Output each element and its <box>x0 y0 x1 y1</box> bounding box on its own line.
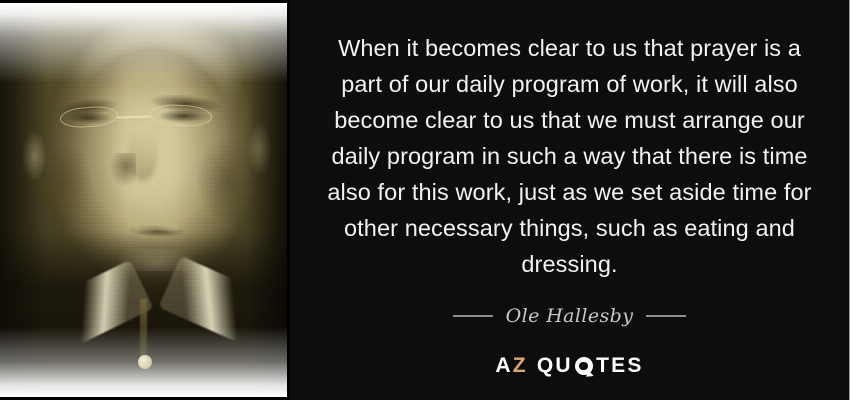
quote-text: When it becomes clear to us that prayer … <box>316 30 823 282</box>
photo-vignette-bottom <box>0 327 287 397</box>
portrait-frame <box>0 3 287 397</box>
photo-vignette-top <box>0 3 287 83</box>
logo-letters-tes: TES <box>596 354 643 378</box>
author-name: Ole Hallesby <box>506 305 634 327</box>
azquotes-logo[interactable]: A Z QU TES <box>290 354 849 378</box>
attribution: Ole Hallesby <box>453 305 687 327</box>
logo-letter-z: Z <box>513 354 528 378</box>
portrait-panel <box>0 0 290 400</box>
quote-panel: When it becomes clear to us that prayer … <box>290 0 849 400</box>
logo-letters-qu: QU <box>537 354 573 378</box>
attribution-rule-left <box>453 315 493 317</box>
quote-card: When it becomes clear to us that prayer … <box>0 0 850 400</box>
attribution-rule-right <box>646 315 686 317</box>
speech-bubble-icon <box>575 357 593 375</box>
logo-letter-a: A <box>495 354 512 378</box>
